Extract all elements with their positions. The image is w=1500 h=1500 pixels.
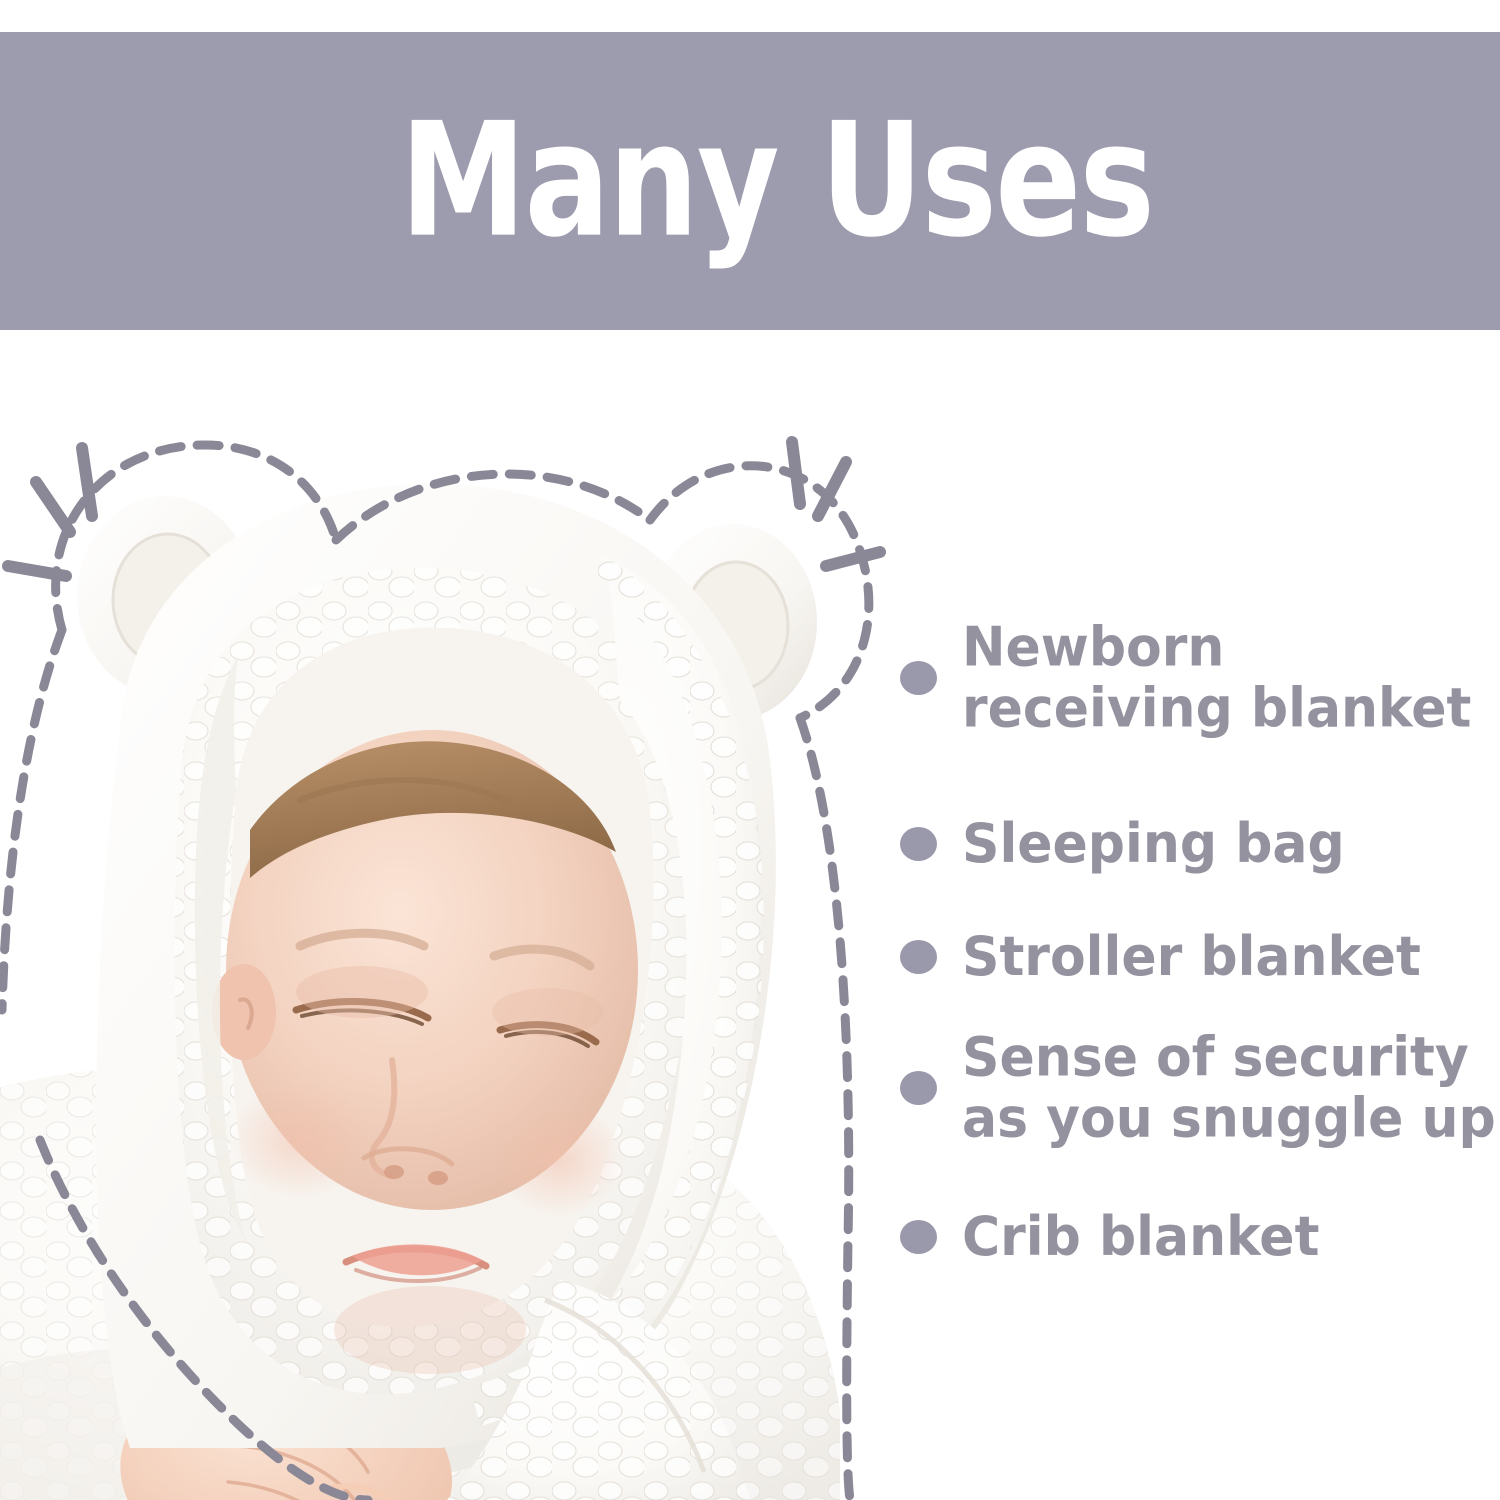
list-item: Sleeping bag xyxy=(900,815,1500,873)
list-item: Stroller blanket xyxy=(900,928,1500,986)
page-title: Many Uses xyxy=(400,102,1153,259)
use-label: Stroller blanket xyxy=(962,927,1421,988)
bullet-dot-icon xyxy=(900,827,937,861)
bullet-dot-icon xyxy=(900,661,937,695)
use-label: Sense of security as you snuggle up xyxy=(962,1027,1500,1149)
baby-photo xyxy=(0,400,900,1500)
use-label: Crib blanket xyxy=(962,1207,1319,1268)
bullet-dot-icon xyxy=(900,940,937,974)
list-item: Sense of security as you snuggle up xyxy=(900,1030,1500,1146)
bullet-dot-icon xyxy=(900,1071,937,1105)
use-label: Newborn receiving blanket xyxy=(962,617,1500,739)
list-item: Crib blanket xyxy=(900,1208,1500,1266)
header-banner: Many Uses xyxy=(0,32,1500,330)
product-photo-stage xyxy=(0,400,900,1500)
bullet-dot-icon xyxy=(900,1220,937,1254)
use-label: Sleeping bag xyxy=(962,814,1345,875)
list-item: Newborn receiving blanket xyxy=(900,620,1500,736)
